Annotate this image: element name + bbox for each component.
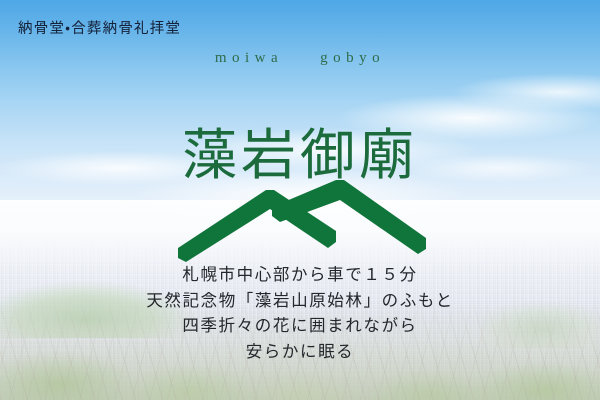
content-overlay: 納骨堂・合葬納骨礼拝堂 moiwa gobyo 藻岩御廟 札幌市中心部から車で１… <box>0 0 600 400</box>
tagline-line-1: 札幌市中心部から車で１５分 <box>0 262 600 288</box>
tagline-line-2: 天然記念物「藻岩山原始林」のふもと <box>0 288 600 314</box>
banner-canvas: 納骨堂・合葬納骨礼拝堂 moiwa gobyo 藻岩御廟 札幌市中心部から車で１… <box>0 0 600 400</box>
tagline-block: 札幌市中心部から車で１５分 天然記念物「藻岩山原始林」のふもと 四季折々の花に囲… <box>0 262 600 364</box>
brand-romaji: moiwa gobyo <box>0 50 600 67</box>
tagline-line-3: 四季折々の花に囲まれながら <box>0 313 600 339</box>
mountain-logo <box>176 178 428 262</box>
facility-type-kicker: 納骨堂・合葬納骨礼拝堂 <box>18 17 181 38</box>
twin-peak-mountain-icon <box>176 178 428 262</box>
tagline-line-4: 安らかに眠る <box>0 339 600 365</box>
